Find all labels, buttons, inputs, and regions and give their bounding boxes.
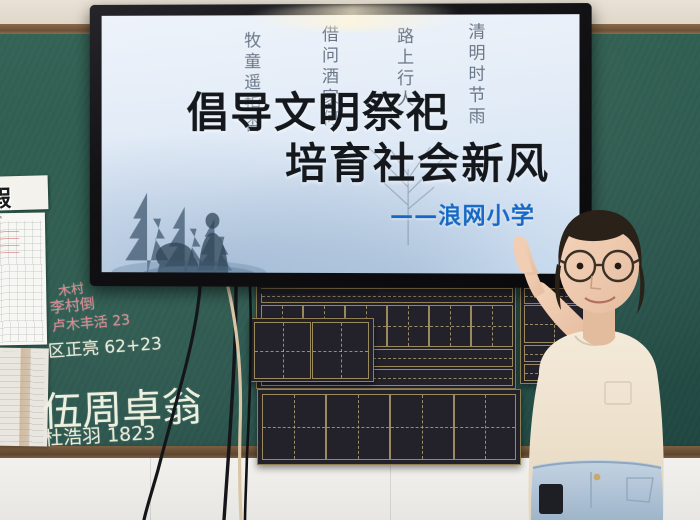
jeans-button: [594, 474, 601, 481]
practice-grid-board-left: [250, 318, 374, 382]
poster-schedule-highlight: [0, 227, 20, 253]
slide-poem-column-1: 清明时节雨: [462, 23, 487, 128]
ink-figures-art: [139, 201, 258, 274]
slide-title-line-2: 培育社会新风: [285, 130, 550, 191]
teacher-figure: [487, 196, 700, 520]
display-bottom-mount: [258, 289, 378, 294]
poster-banner: 假: [0, 175, 48, 211]
poster-notice-torn-edge: [19, 348, 31, 446]
poster-schedule-title: 课程表: [0, 215, 2, 219]
poster-schedule-sheet: 课程表: [0, 213, 47, 346]
classroom-photo: 假 课程表 木村李村倒卢木丰活 23区正亮 62+23伍周卓翁杜浩羽 1823: [0, 0, 700, 520]
teacher-eye-right: [615, 263, 622, 270]
phone-in-pocket: [539, 484, 563, 514]
practice-grid-board-lower: [257, 389, 521, 465]
poster-banner-text: 假: [0, 179, 11, 211]
teacher-eye-left: [577, 263, 584, 270]
